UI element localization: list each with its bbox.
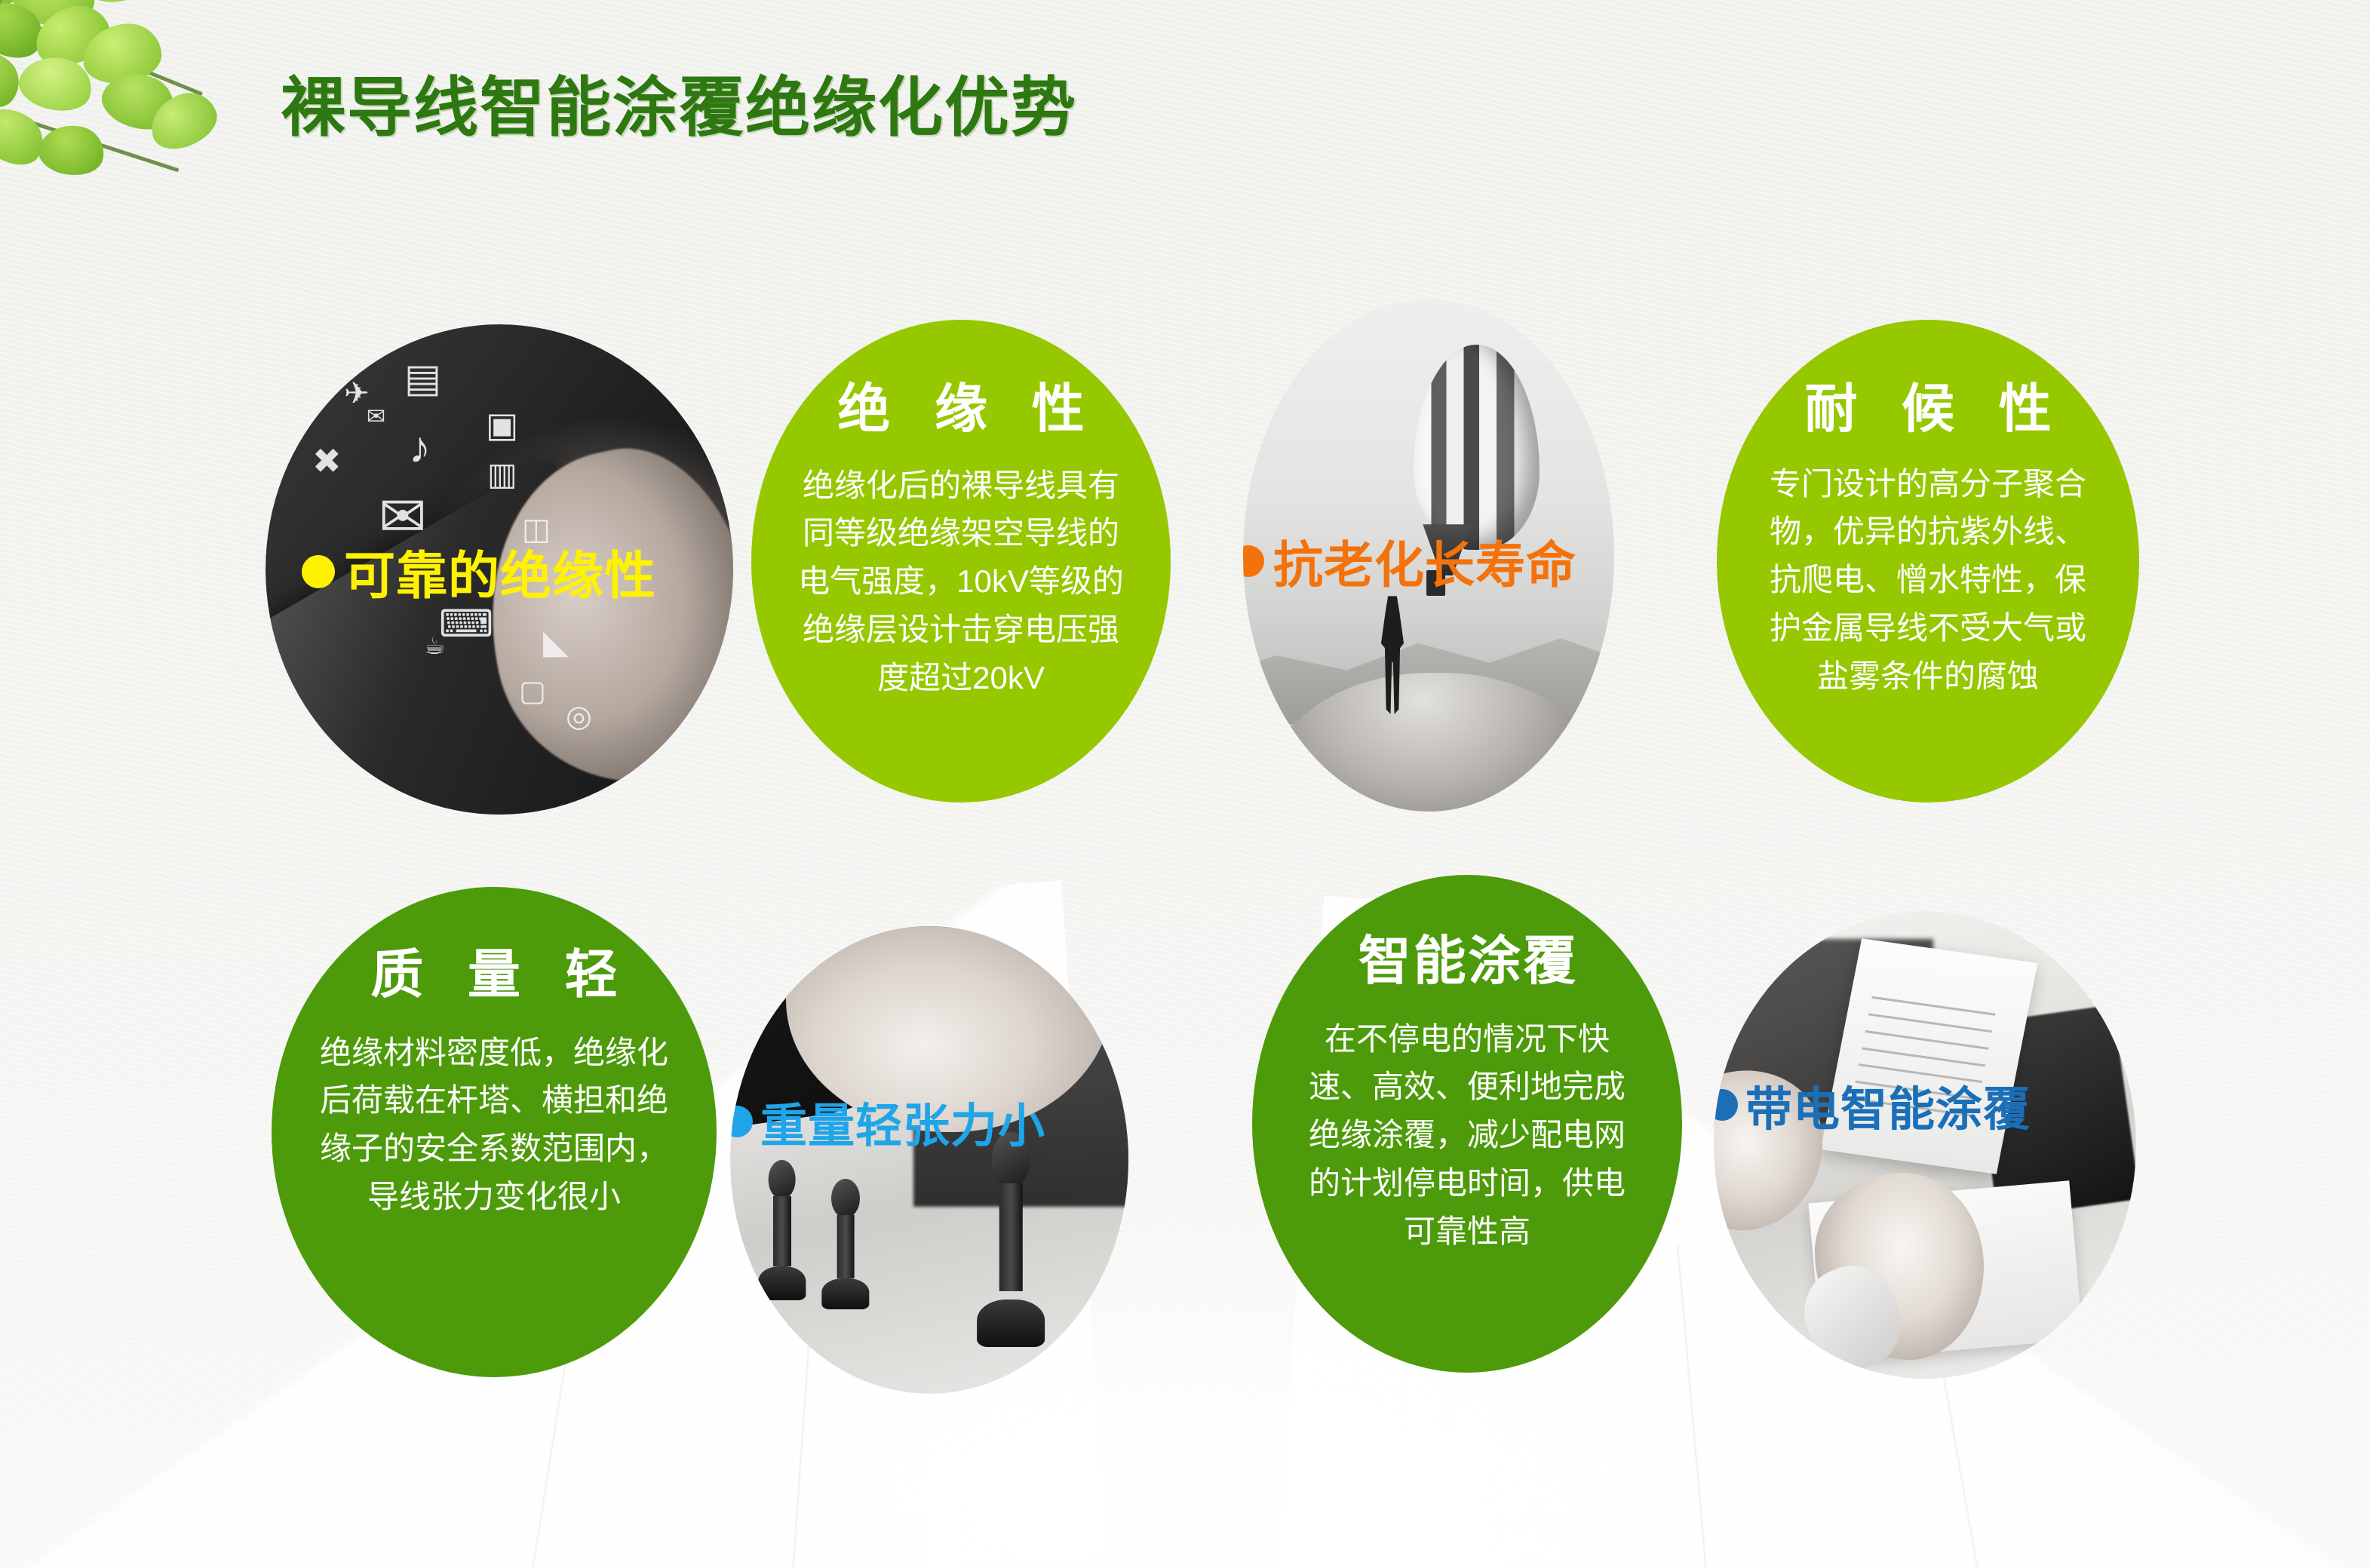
- pawn-base: [821, 1278, 869, 1310]
- chess-pawn-small-2: [758, 1160, 806, 1300]
- feature-circle-weather-resistance[interactable]: 耐 候 性 专门设计的高分子聚合物，优异的抗紫外线、抗爬电、憎水特性，保护金属导…: [1717, 320, 2139, 802]
- photo-circle-light-weight-low-tension[interactable]: 重量轻张力小: [730, 926, 1128, 1394]
- bullet-dot-icon: [730, 1106, 753, 1137]
- photo-label-text: 带电智能涂覆: [1745, 1071, 2031, 1139]
- photo-circle-reliable-insulation[interactable]: ✉ ♪ ✈ ✉ ▤ ▣ ✖ ▥ ◫ ⌨ ◣ ▢ ◎ ☕ 可靠的绝缘性: [266, 324, 733, 815]
- photo-label-anti-aging: 抗老化长寿命: [1243, 525, 1614, 597]
- pawn-head: [831, 1179, 860, 1218]
- chat-bubble-icon: ▣: [486, 407, 518, 442]
- alarm-icon: ◎: [566, 701, 592, 732]
- feature-circle-insulation[interactable]: 绝 缘 性 绝缘化后的裸导线具有同等级绝缘架空导线的电气强度，10kV等级的绝缘…: [751, 320, 1171, 802]
- bullet-dot-icon: [1714, 1089, 1738, 1121]
- photo-circle-anti-aging[interactable]: 抗老化长寿命: [1243, 299, 1614, 812]
- paper-text-line: [1871, 996, 1995, 1016]
- paper-text-line: [1865, 1029, 1989, 1049]
- photo-label-reliable-insulation: 可靠的绝缘性: [266, 534, 733, 609]
- chess-hand-photo: [730, 926, 1128, 1394]
- pawn-base: [977, 1300, 1045, 1347]
- camera-icon: ▥: [487, 459, 517, 490]
- cup-icon: ☕: [424, 634, 446, 658]
- feature-body-lightweight: 绝缘材料密度低，绝缘化后荷载在杆塔、横担和绝缘子的安全系数范围内，导线张力变化很…: [314, 1029, 674, 1221]
- slide-canvas: 裸导线智能涂覆绝缘化优势 ✉ ♪ ✈ ✉ ▤ ▣ ✖ ▥ ◫ ⌨ ◣ ▢ ◎ ☕…: [0, 0, 2370, 1568]
- feature-heading-insulation: 绝 缘 性: [823, 382, 1100, 437]
- chess-pawn-small-1: [821, 1179, 869, 1310]
- feature-heading-lightweight: 质 量 轻: [356, 947, 633, 1003]
- photo-circle-live-line-coating[interactable]: 带电智能涂覆: [1714, 911, 2136, 1379]
- pawn-stem: [999, 1183, 1023, 1291]
- pawn-stem: [773, 1196, 791, 1266]
- mail-small-icon: ✉: [367, 406, 385, 428]
- tablet-icon: ▤: [404, 359, 441, 398]
- photo-label-low-tension: 重量轻张力小: [730, 1088, 1128, 1155]
- balloon-envelope: [1414, 345, 1540, 550]
- photo-label-live-line-coating: 带电智能涂覆: [1714, 1071, 2136, 1139]
- chess-pawn-main: [977, 1132, 1045, 1347]
- paper-text-line: [1862, 1047, 1985, 1066]
- keyboard-icon: ⌨: [439, 605, 493, 643]
- tag-icon: ▢: [519, 677, 546, 706]
- photo-label-text: 抗老化长寿命: [1273, 525, 1576, 597]
- photo-label-text: 可靠的绝缘性: [344, 534, 656, 609]
- leaves-decoration: [0, 0, 287, 226]
- bullet-dot-icon: [302, 555, 335, 588]
- page-title: 裸导线智能涂覆绝缘化优势: [281, 54, 1077, 149]
- music-note-icon: ♪: [409, 426, 431, 470]
- feature-circle-smart-coating[interactable]: 智能涂覆 在不停电的情况下快速、高效、便利地完成绝缘涂覆，减少配电网的计划停电时…: [1252, 875, 1682, 1373]
- pawn-base: [758, 1266, 806, 1300]
- megaphone-icon: ◣: [543, 626, 569, 659]
- feature-heading-weather: 耐 候 性: [1790, 382, 2067, 437]
- feature-heading-smartcoating: 智能涂覆: [1356, 934, 1578, 990]
- bullet-dot-icon: [1243, 545, 1264, 577]
- feature-body-smartcoating: 在不停电的情况下快速、高效、便利地完成绝缘涂覆，减少配电网的计划停电时间，供电可…: [1291, 1015, 1643, 1256]
- feature-circle-light-weight[interactable]: 质 量 轻 绝缘材料密度低，绝缘化后荷载在杆塔、横担和绝缘子的安全系数范围内，导…: [272, 887, 717, 1377]
- feature-body-insulation: 绝缘化后的裸导线具有同等级绝缘架空导线的电气强度，10kV等级的绝缘层设计击穿电…: [786, 462, 1136, 702]
- send-plane-icon: ✈: [344, 379, 370, 409]
- photo-label-text: 重量轻张力小: [760, 1088, 1045, 1155]
- pin-icon: ✖: [312, 443, 342, 478]
- floor-line-3: [1677, 1245, 1707, 1568]
- document-review-photo: [1714, 911, 2136, 1379]
- pawn-head: [768, 1160, 796, 1199]
- paper-text-line: [1868, 1013, 1992, 1033]
- feature-body-weather: 专门设计的高分子聚合物，优异的抗紫外线、抗爬电、憎水特性，保护金属导线不受大气或…: [1751, 460, 2104, 701]
- pawn-stem: [837, 1215, 855, 1278]
